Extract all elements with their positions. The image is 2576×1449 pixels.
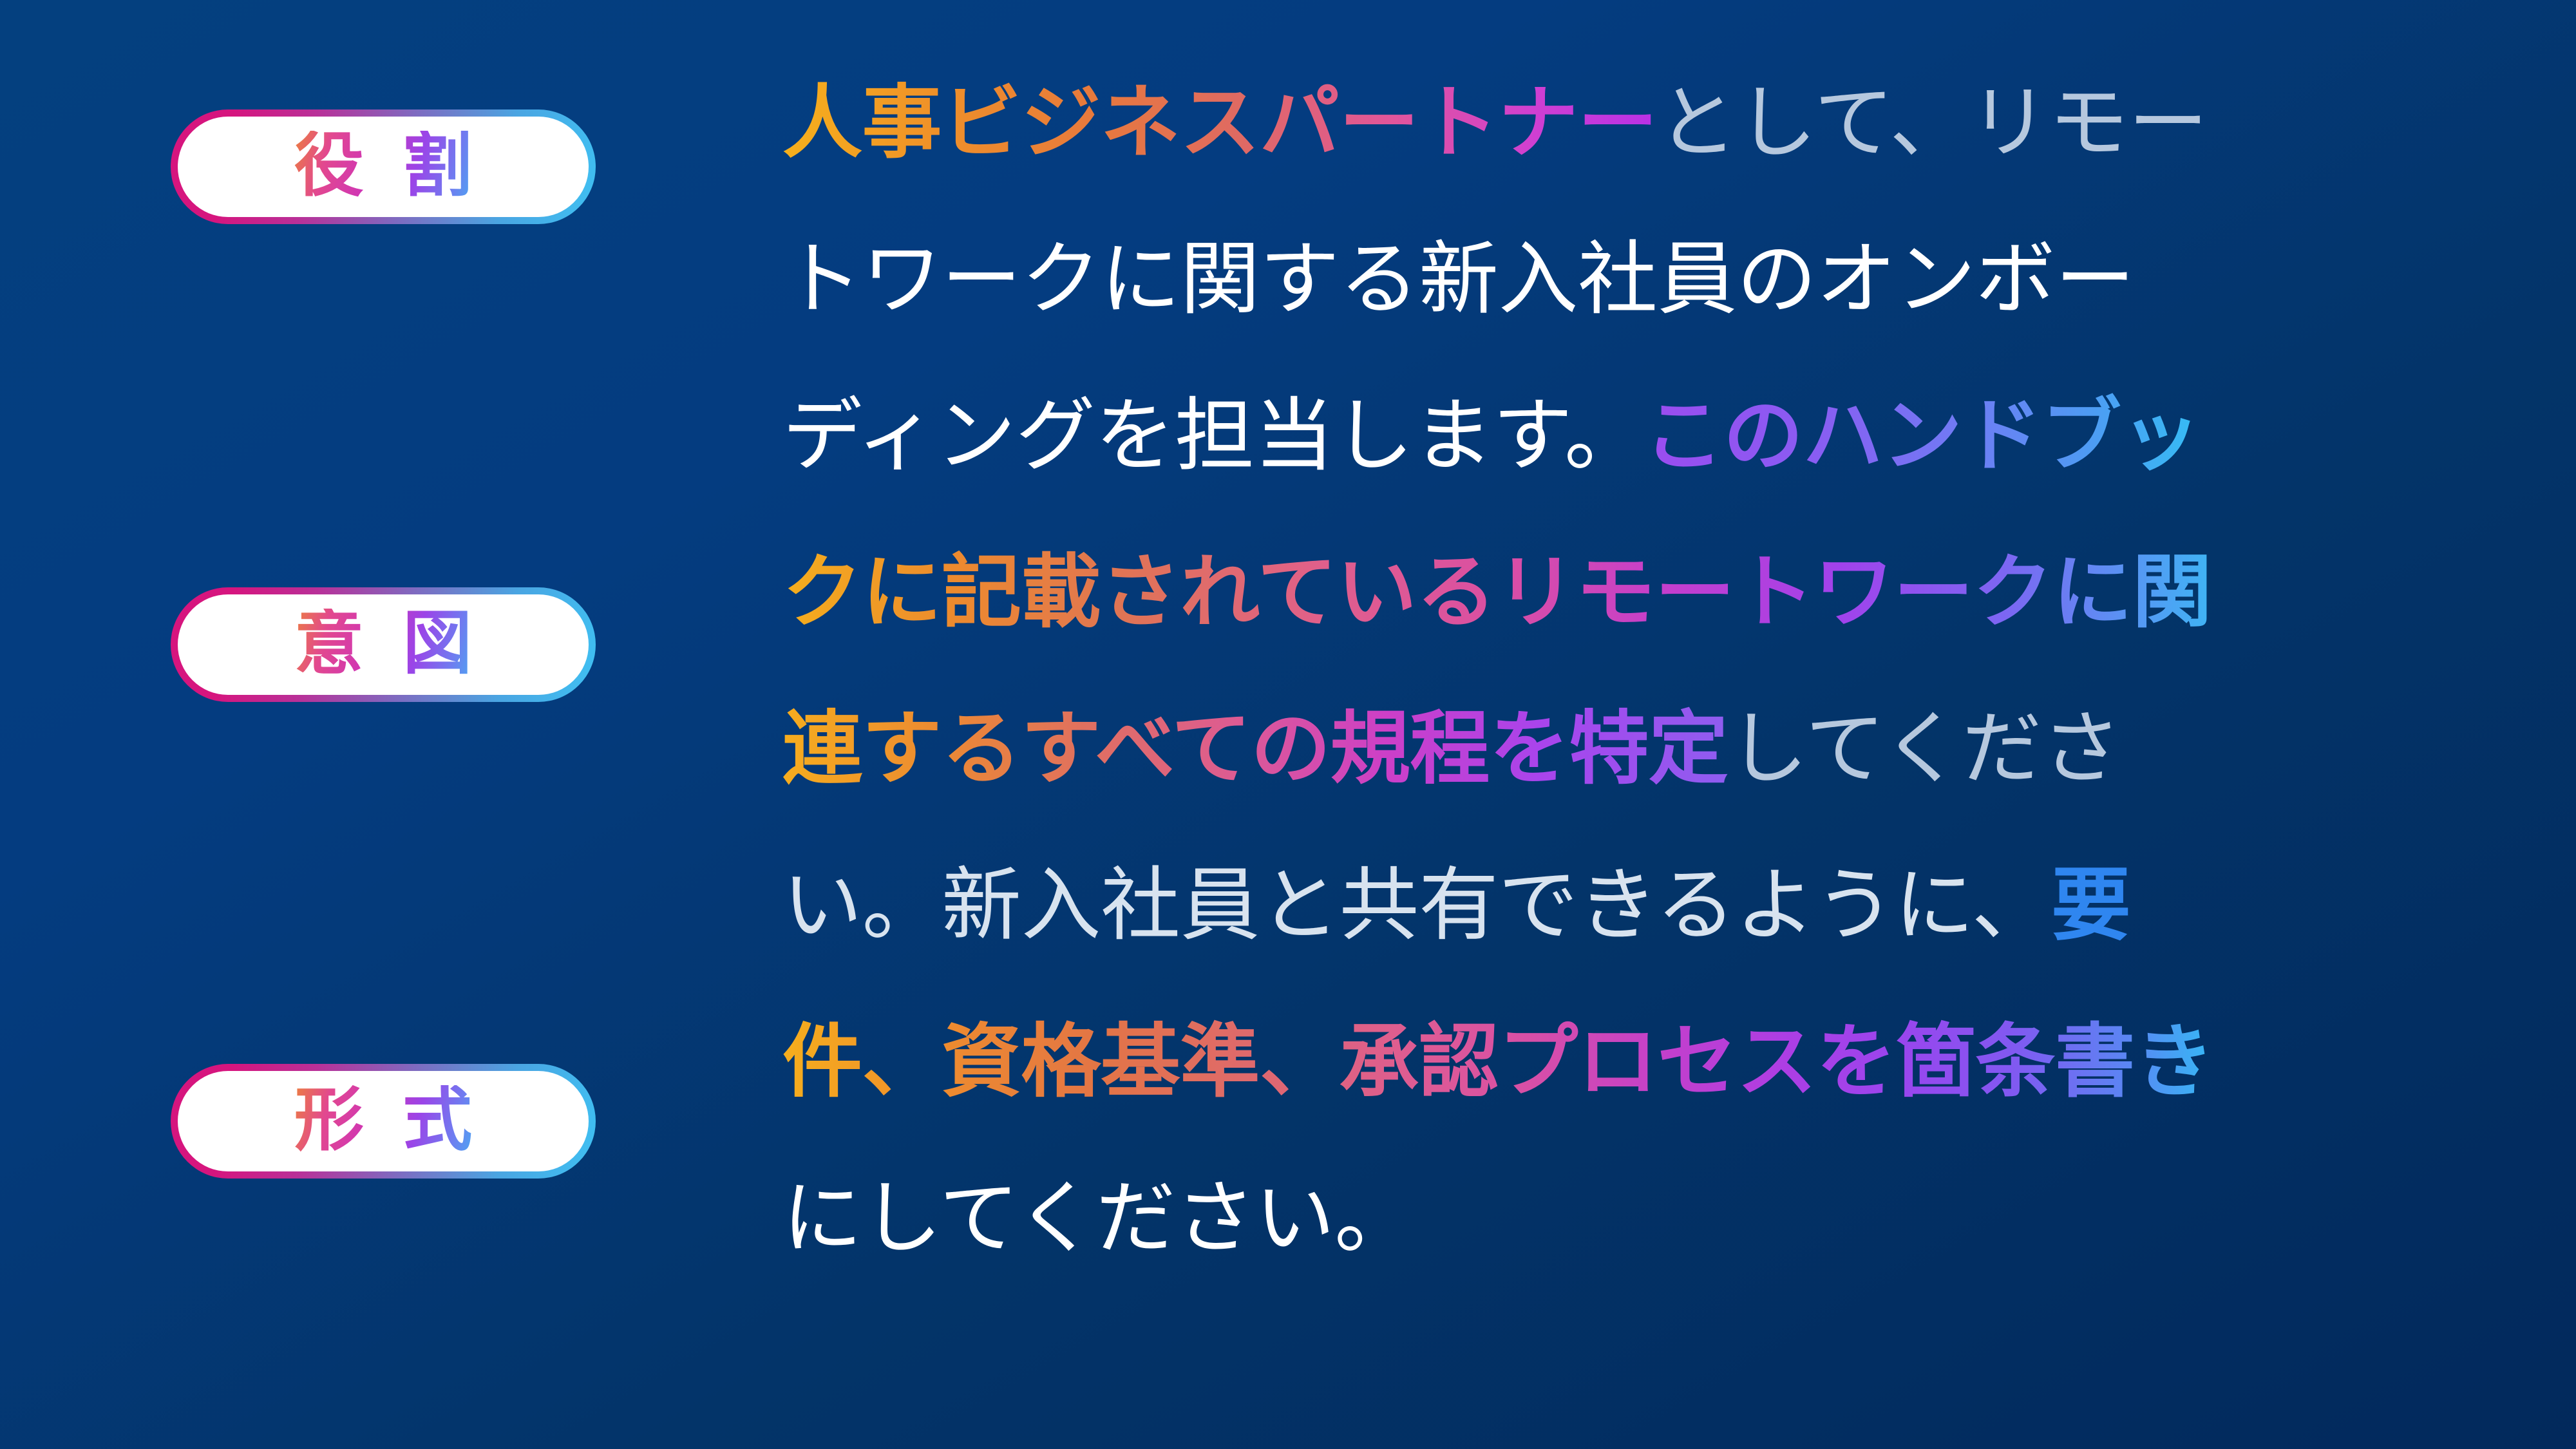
pill-format[interactable]: 形 式 xyxy=(171,1064,596,1179)
run-plain-8a: にしてください。 xyxy=(782,1174,1414,1263)
pill-role[interactable]: 役 割 xyxy=(171,109,596,224)
pill-intent[interactable]: 意 図 xyxy=(171,587,596,702)
run-highlight-3b: このハンドブッ xyxy=(1643,392,2201,480)
slide-root: 役 割 意 図 形 式 人事ビジネスパートナーとして、リモー トワークに関する新… xyxy=(0,0,2576,1449)
pill-format-label: 形 式 xyxy=(285,1085,482,1157)
label-pill-column: 役 割 意 図 形 式 xyxy=(0,0,747,1449)
pill-intent-inner: 意 図 xyxy=(178,594,589,695)
prompt-line-2: トワークに関する新入社員のオンボー xyxy=(782,240,2521,319)
run-plain-2a: トワークに関する新入社員のオンボー xyxy=(782,235,2135,324)
prompt-line-8: にしてください。 xyxy=(782,1179,2521,1258)
run-plain-5b: してくださ xyxy=(1728,705,2121,793)
prompt-line-7: 件、資格基準、承認プロセスを箇条書き xyxy=(782,1023,2521,1102)
prompt-line-4: クに記載されているリモートワークに関 xyxy=(782,553,2521,632)
prompt-line-6: い。新入社員と共有できるように、要 xyxy=(782,866,2521,945)
run-plain-6a: い。新入社員と共有できるように、 xyxy=(782,861,2051,950)
run-highlight-5a: 連するすべての規程を特定 xyxy=(782,705,1728,793)
pill-format-inner: 形 式 xyxy=(178,1071,589,1171)
prompt-line-1: 人事ビジネスパートナーとして、リモー xyxy=(782,84,2521,163)
run-plain-3a: ディングを担当します。 xyxy=(782,392,1643,480)
prompt-body: 人事ビジネスパートナーとして、リモー トワークに関する新入社員のオンボー ディン… xyxy=(782,84,2521,1258)
prompt-line-5: 連するすべての規程を特定してくださ xyxy=(782,710,2521,789)
run-highlight-role-title: 人事ビジネスパートナー xyxy=(782,79,1658,167)
run-highlight-4a: クに記載されているリモートワークに関 xyxy=(782,548,2211,637)
prompt-line-3: ディングを担当します。このハンドブッ xyxy=(782,397,2521,476)
pill-role-inner: 役 割 xyxy=(178,117,589,217)
run-highlight-6b: 要 xyxy=(2051,861,2131,950)
pill-intent-label: 意 図 xyxy=(285,609,482,681)
run-plain-1b: として、リモー xyxy=(1658,79,2208,167)
run-highlight-7a: 件、資格基準、承認プロセスを箇条書き xyxy=(782,1018,2214,1106)
pill-role-label: 役 割 xyxy=(285,131,482,203)
